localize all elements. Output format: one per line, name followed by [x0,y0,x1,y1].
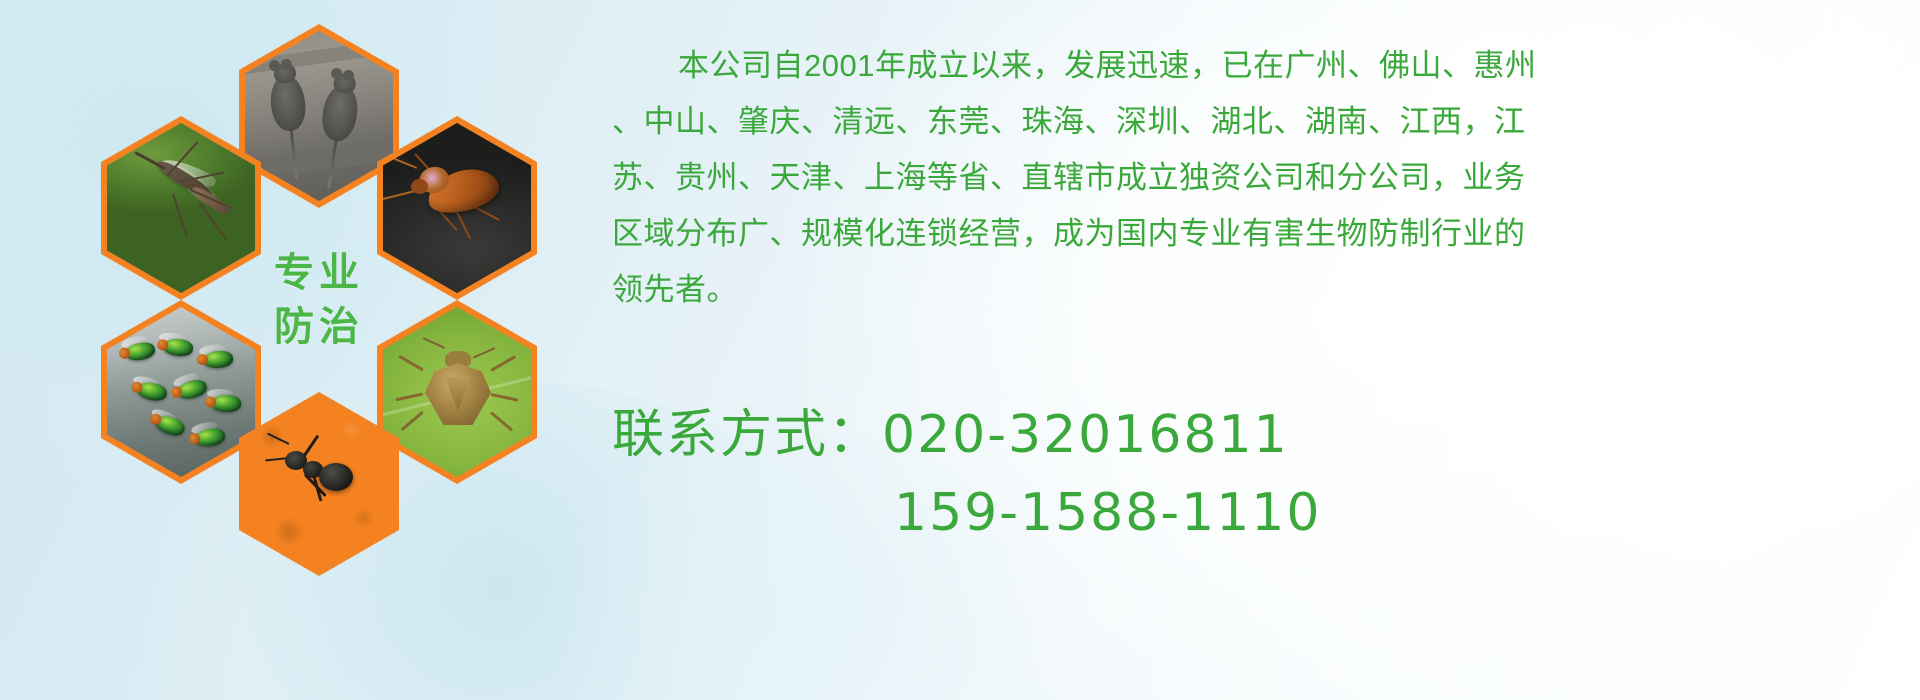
intro-line-3: 苏、贵州、天津、上海等省、直辖市成立独资公司和分公司，业务 [612,150,1912,206]
hex-cell-slogan: 专业 防治 [239,208,399,392]
mosquito-photo [107,123,255,293]
flies-photo [107,307,255,477]
hex-cell-ant[interactable] [239,392,399,576]
contact-mobile-line[interactable]: 159-1588-1110 [612,474,1912,552]
intro-line-2: 、中山、肇庆、清远、东莞、珠海、深圳、湖北、湖南、江西，江 [612,94,1912,150]
promo-banner: 专业 防治 [0,0,1920,700]
slogan-line-1: 专业 [274,246,364,300]
contact-block: 联系方式：020-32016811 159-1588-1110 [612,396,1912,552]
hex-cell-rats[interactable] [239,24,399,208]
ant-photo [245,399,393,569]
slogan-line-2: 防治 [274,300,364,354]
hex-cell-mosquito[interactable] [101,116,261,300]
company-intro-paragraph: 本公司自2001年成立以来，发展迅速，已在广州、佛山、惠州 、中山、肇庆、清远、… [612,38,1912,318]
contact-phone-line[interactable]: 联系方式：020-32016811 [612,396,1912,474]
intro-line-4: 区域分布广、规模化连锁经营，成为国内专业有害生物防制行业的 [612,206,1912,262]
hex-cell-flies[interactable] [101,300,261,484]
stinkbug-photo [383,307,531,477]
hex-cell-stinkbug[interactable] [377,300,537,484]
hex-cell-cockroach[interactable] [377,116,537,300]
rats-photo [245,31,393,201]
hexagon-photo-cluster: 专业 防治 [85,10,585,570]
intro-line-5: 领先者。 [612,262,1912,318]
cockroach-photo [383,123,531,293]
intro-line-1: 本公司自2001年成立以来，发展迅速，已在广州、佛山、惠州 [612,38,1912,94]
